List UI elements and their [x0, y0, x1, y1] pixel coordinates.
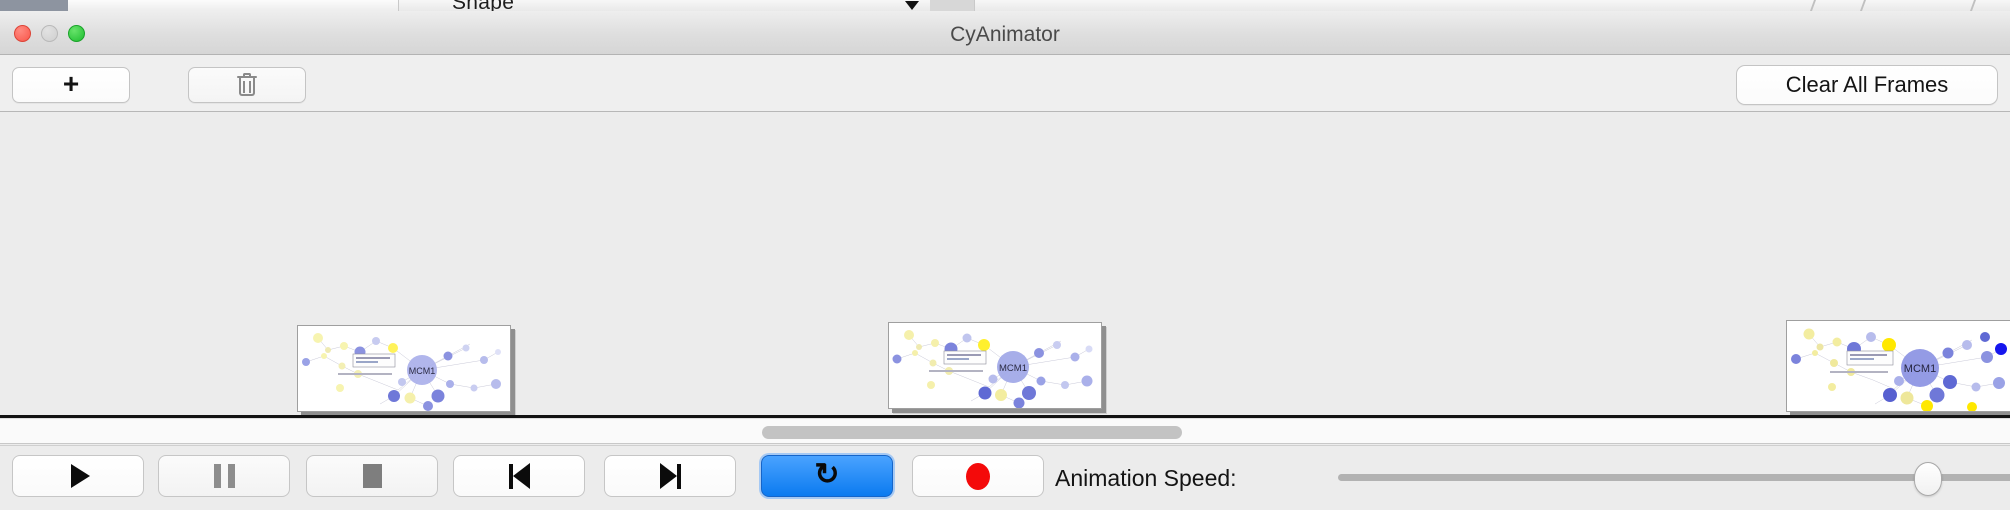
pause-icon: [214, 464, 235, 488]
clear-all-frames-label: Clear All Frames: [1786, 72, 1949, 98]
svg-text:MCM1: MCM1: [409, 366, 436, 376]
background-divider-1: [1810, 0, 1828, 11]
skip-back-icon: [509, 463, 530, 489]
play-icon: [71, 464, 90, 488]
record-icon: [966, 463, 990, 490]
background-cursor-icon: [905, 1, 919, 10]
animation-speed-slider[interactable]: [1338, 474, 2010, 481]
animation-speed-track[interactable]: [1338, 474, 2010, 481]
background-tab-6: [346, 0, 399, 11]
background-tab-7: [930, 0, 975, 11]
next-frame-button[interactable]: [604, 455, 736, 497]
background-tab-2: [178, 0, 239, 11]
background-tab-1: [68, 0, 179, 11]
animation-speed-thumb[interactable]: [1914, 462, 1942, 496]
network-preview-2: MCM1: [889, 323, 1101, 408]
loop-button[interactable]: ↻: [761, 455, 893, 497]
toolbar: + Clear All Frames: [0, 55, 2010, 112]
animation-speed-label: Animation Speed:: [1055, 465, 1237, 492]
network-preview-3: MCM1: [1787, 321, 2010, 411]
cyanimator-window: Shape CyAnimator + Clear: [0, 0, 2010, 510]
background-tab-5: [286, 0, 347, 11]
plus-icon: +: [63, 70, 79, 98]
timeline-scrollbar-track[interactable]: [0, 418, 2010, 444]
frame-thumbnail-3[interactable]: MCM1: [1786, 320, 2010, 412]
titlebar: CyAnimator: [0, 11, 2010, 55]
playback-control-bar: ↻ Animation Speed:: [0, 445, 2010, 510]
play-button[interactable]: [12, 455, 144, 497]
delete-frame-button[interactable]: [188, 67, 306, 103]
background-tab-4: [260, 0, 287, 11]
record-button[interactable]: [912, 455, 1044, 497]
add-frame-button[interactable]: +: [12, 67, 130, 103]
trash-icon: [237, 73, 257, 97]
frame-thumbnail-2[interactable]: MCM1: [888, 322, 1102, 409]
frame-thumbnail-1[interactable]: MCM1: [297, 325, 511, 412]
background-divider-3: [1970, 0, 1988, 11]
timeline-scrollbar-thumb[interactable]: [762, 426, 1182, 439]
svg-text:MCM1: MCM1: [1904, 363, 1936, 375]
background-divider-2: [1860, 0, 1878, 11]
background-tab-3: [238, 0, 261, 11]
window-title: CyAnimator: [0, 23, 2010, 47]
svg-text:MCM1: MCM1: [999, 363, 1027, 374]
previous-frame-button[interactable]: [453, 455, 585, 497]
network-preview-1: MCM1: [298, 326, 510, 411]
skip-forward-icon: [660, 463, 681, 489]
timeline-panel[interactable]: MCM1: [0, 112, 2010, 418]
pause-button[interactable]: [158, 455, 290, 497]
stop-icon: [363, 464, 382, 488]
stop-button[interactable]: [306, 455, 438, 497]
clear-all-frames-button[interactable]: Clear All Frames: [1736, 65, 1998, 105]
background-sidebar: [0, 0, 68, 11]
loop-icon: ↻: [814, 460, 839, 490]
